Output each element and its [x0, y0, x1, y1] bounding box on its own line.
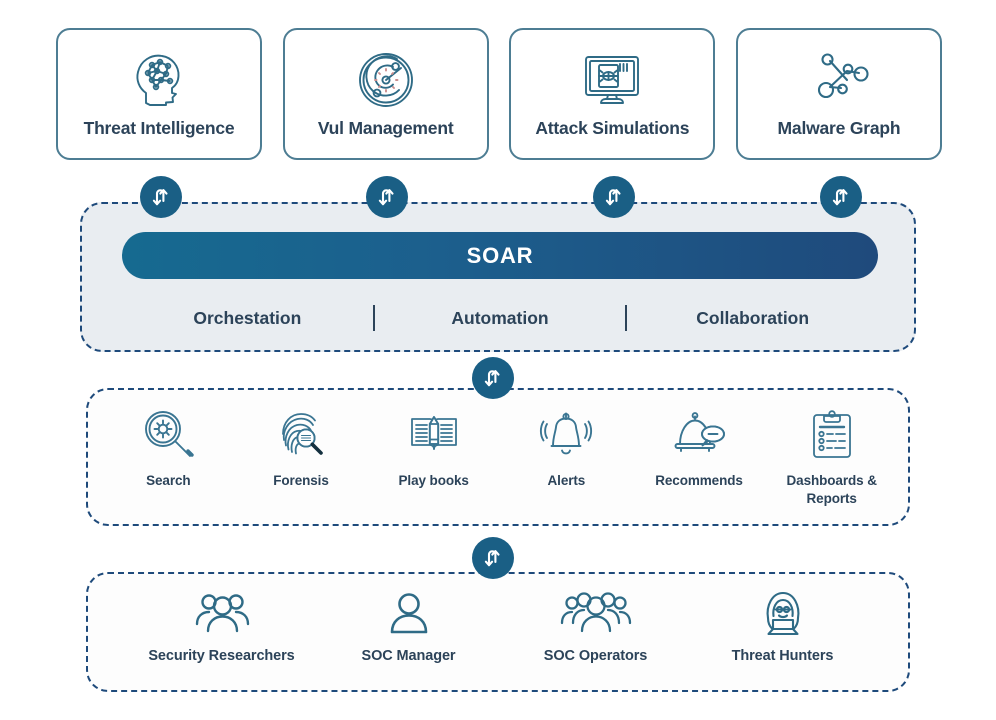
source-card-label: Threat Intelligence: [84, 118, 235, 139]
capability-dashboards-reports[interactable]: Dashboards &Reports: [765, 402, 898, 516]
capability-label: Play books: [399, 472, 469, 490]
soar-pillars-row: Orchestation Automation Collaboration: [122, 300, 878, 336]
capability-search[interactable]: Search: [102, 402, 235, 516]
people-group-three-icon: [191, 584, 253, 640]
source-card-attack-simulations[interactable]: Attack Simulations: [509, 28, 715, 160]
source-card-label: Malware Graph: [778, 118, 901, 139]
role-threat-hunters[interactable]: Threat Hunters: [689, 584, 876, 684]
role-label: Threat Hunters: [732, 648, 834, 664]
soar-architecture-diagram: Threat Intelligence: [0, 0, 996, 720]
open-book-pencil-icon: [406, 402, 462, 466]
source-cards-row: Threat Intelligence: [56, 28, 942, 160]
sync-badge-threat-intelligence[interactable]: [140, 176, 182, 218]
network-graph-icon: [806, 44, 872, 116]
roles-panel: Security Researchers SOC Manager: [86, 572, 910, 692]
capability-recommends[interactable]: Recommends: [633, 402, 766, 516]
sync-badge-soar-to-capabilities[interactable]: [472, 357, 514, 399]
hooded-hacker-laptop-icon: [755, 584, 811, 640]
monitor-bug-icon: [579, 44, 645, 116]
sync-arrows-icon: [601, 184, 627, 210]
source-card-label: Attack Simulations: [535, 118, 689, 139]
sync-arrows-icon: [148, 184, 174, 210]
role-label: SOC Operators: [544, 648, 647, 664]
capability-play-books[interactable]: Play books: [367, 402, 500, 516]
ringing-bell-icon: [538, 402, 594, 466]
soar-pillar-collaboration: Collaboration: [627, 308, 878, 329]
sync-badge-vul-management[interactable]: [366, 176, 408, 218]
source-card-vul-management[interactable]: Vul Management: [283, 28, 489, 160]
sync-badge-capabilities-to-roles[interactable]: [472, 537, 514, 579]
capability-forensis[interactable]: Forensis: [235, 402, 368, 516]
capability-alerts[interactable]: Alerts: [500, 402, 633, 516]
clipboard-checklist-icon: [804, 402, 860, 466]
role-soc-manager[interactable]: SOC Manager: [315, 584, 502, 684]
capability-label: Dashboards &Reports: [787, 472, 877, 507]
sync-arrows-icon: [828, 184, 854, 210]
radar-scan-icon: [353, 44, 419, 116]
single-person-icon: [384, 584, 434, 640]
fingerprint-magnifier-icon: [273, 402, 329, 466]
role-soc-operators[interactable]: SOC Operators: [502, 584, 689, 684]
soar-panel: SOAR Orchestation Automation Collaborati…: [80, 202, 916, 352]
source-card-label: Vul Management: [318, 118, 454, 139]
capability-label: Search: [146, 472, 190, 490]
role-label: Security Researchers: [148, 648, 294, 664]
capability-label: Forensis: [273, 472, 328, 490]
source-card-malware-graph[interactable]: Malware Graph: [736, 28, 942, 160]
capability-label: Recommends: [655, 472, 743, 490]
sync-arrows-icon: [480, 365, 506, 391]
service-bell-speech-icon: [671, 402, 727, 466]
soar-pillar-automation: Automation: [375, 308, 626, 329]
sync-badge-attack-simulations[interactable]: [593, 176, 635, 218]
role-label: SOC Manager: [362, 648, 456, 664]
role-security-researchers[interactable]: Security Researchers: [128, 584, 315, 684]
sync-arrows-icon: [480, 545, 506, 571]
sync-arrows-icon: [374, 184, 400, 210]
soar-pillar-orchestation: Orchestation: [122, 308, 373, 329]
magnifier-gear-icon: [140, 402, 196, 466]
sync-badge-malware-graph[interactable]: [820, 176, 862, 218]
capability-label: Alerts: [548, 472, 586, 490]
capabilities-row: Search: [102, 402, 898, 516]
roles-row: Security Researchers SOC Manager: [128, 584, 876, 684]
capabilities-panel: Search: [86, 388, 910, 526]
brain-head-icon: [126, 44, 192, 116]
soar-bar: SOAR: [122, 232, 878, 279]
soar-title: SOAR: [467, 243, 534, 269]
source-card-threat-intelligence[interactable]: Threat Intelligence: [56, 28, 262, 160]
people-group-five-icon: [560, 584, 632, 640]
